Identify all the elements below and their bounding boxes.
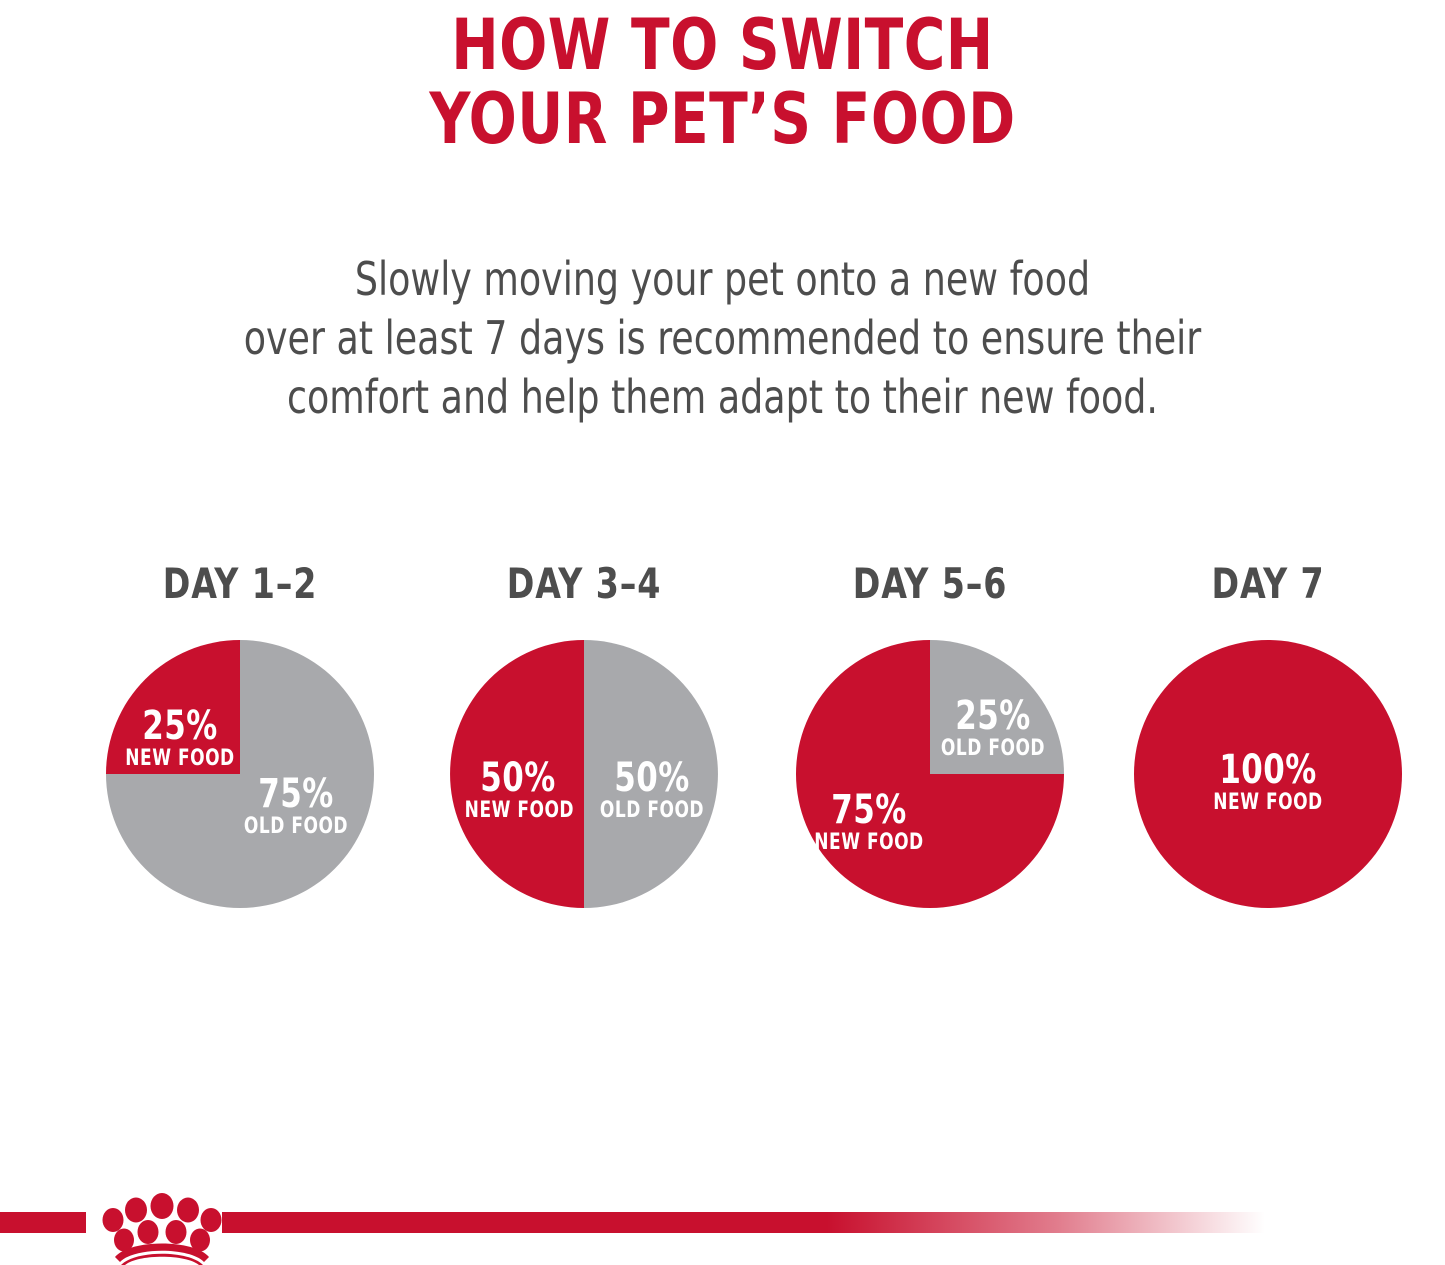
pie-cell-day-7: DAY 7 100% NEW FOOD [1118,560,1418,960]
page-subtitle-line-1: Slowly moving your pet onto a new food [87,250,1359,309]
pie-chart-row: DAY 1–2 25% NEW FOOD 75% OLD FOOD [0,560,1445,960]
slice-who: NEW FOOD [1212,790,1324,816]
pie-cell-day-3-4: DAY 3–4 50% NEW FOOD 50% OLD FOOD [434,560,734,960]
slice-who: OLD FOOD [599,798,706,824]
slice-pct: 75% [236,774,356,814]
day-label-4: DAY 7 [1136,560,1400,608]
day-label-3: DAY 5–6 [798,560,1062,608]
slice-pct: 75% [813,790,925,830]
pie-chart-day-5-6: 25% OLD FOOD 75% NEW FOOD [794,638,1066,910]
pie-chart-day-3-4: 50% NEW FOOD 50% OLD FOOD [448,638,720,910]
day-label-2: DAY 3–4 [452,560,716,608]
footer-rule-left [0,1212,86,1233]
slice-pct: 50% [599,758,706,798]
page-subtitle: Slowly moving your pet onto a new food o… [87,250,1359,427]
slice-label-old-food-day-1-2: 75% OLD FOOD [236,774,356,840]
pie-svg-day-5-6 [794,638,1066,910]
pie-chart-day-1-2: 25% NEW FOOD 75% OLD FOOD [104,638,376,910]
slice-who: NEW FOOD [465,798,572,824]
slice-label-old-food-day-3-4: 50% OLD FOOD [599,758,706,824]
page-title-line-1: HOW TO SWITCH [72,8,1373,82]
page-subtitle-line-3: comfort and help them adapt to their new… [87,368,1359,427]
pie-cell-day-1-2: DAY 1–2 25% NEW FOOD 75% OLD FOOD [90,560,390,960]
page-subtitle-line-2: over at least 7 days is recommended to e… [87,309,1359,368]
slice-pct: 25% [120,706,240,746]
page-title: HOW TO SWITCH YOUR PET’S FOOD [72,8,1373,156]
slice-label-new-food-day-3-4: 50% NEW FOOD [465,758,572,824]
slice-who: NEW FOOD [813,830,925,856]
page-title-line-2: YOUR PET’S FOOD [72,82,1373,156]
royal-canin-crown-icon [96,1186,228,1265]
slice-label-new-food-day-1-2: 25% NEW FOOD [120,706,240,772]
slice-who: OLD FOOD [939,736,1047,762]
slice-who: OLD FOOD [236,814,356,840]
slice-label-new-food-day-5-6: 75% NEW FOOD [813,790,925,856]
pie-cell-day-5-6: DAY 5–6 25% OLD FOOD 75% NEW FOOD [780,560,1080,960]
slice-label-old-food-day-5-6: 25% OLD FOOD [939,696,1047,762]
slice-pct: 25% [939,696,1047,736]
slice-pct: 100% [1212,750,1324,790]
day-label-1: DAY 1–2 [108,560,372,608]
slice-label-new-food-day-7: 100% NEW FOOD [1212,750,1324,816]
footer-brand-bar [0,1186,1445,1265]
slice-pct: 50% [465,758,572,798]
infographic-page: HOW TO SWITCH YOUR PET’S FOOD Slowly mov… [0,0,1445,1265]
slice-who: NEW FOOD [120,746,240,772]
crown-icon-svg [96,1186,228,1265]
footer-rule-right [222,1212,1265,1233]
pie-chart-day-7: 100% NEW FOOD [1132,638,1404,910]
